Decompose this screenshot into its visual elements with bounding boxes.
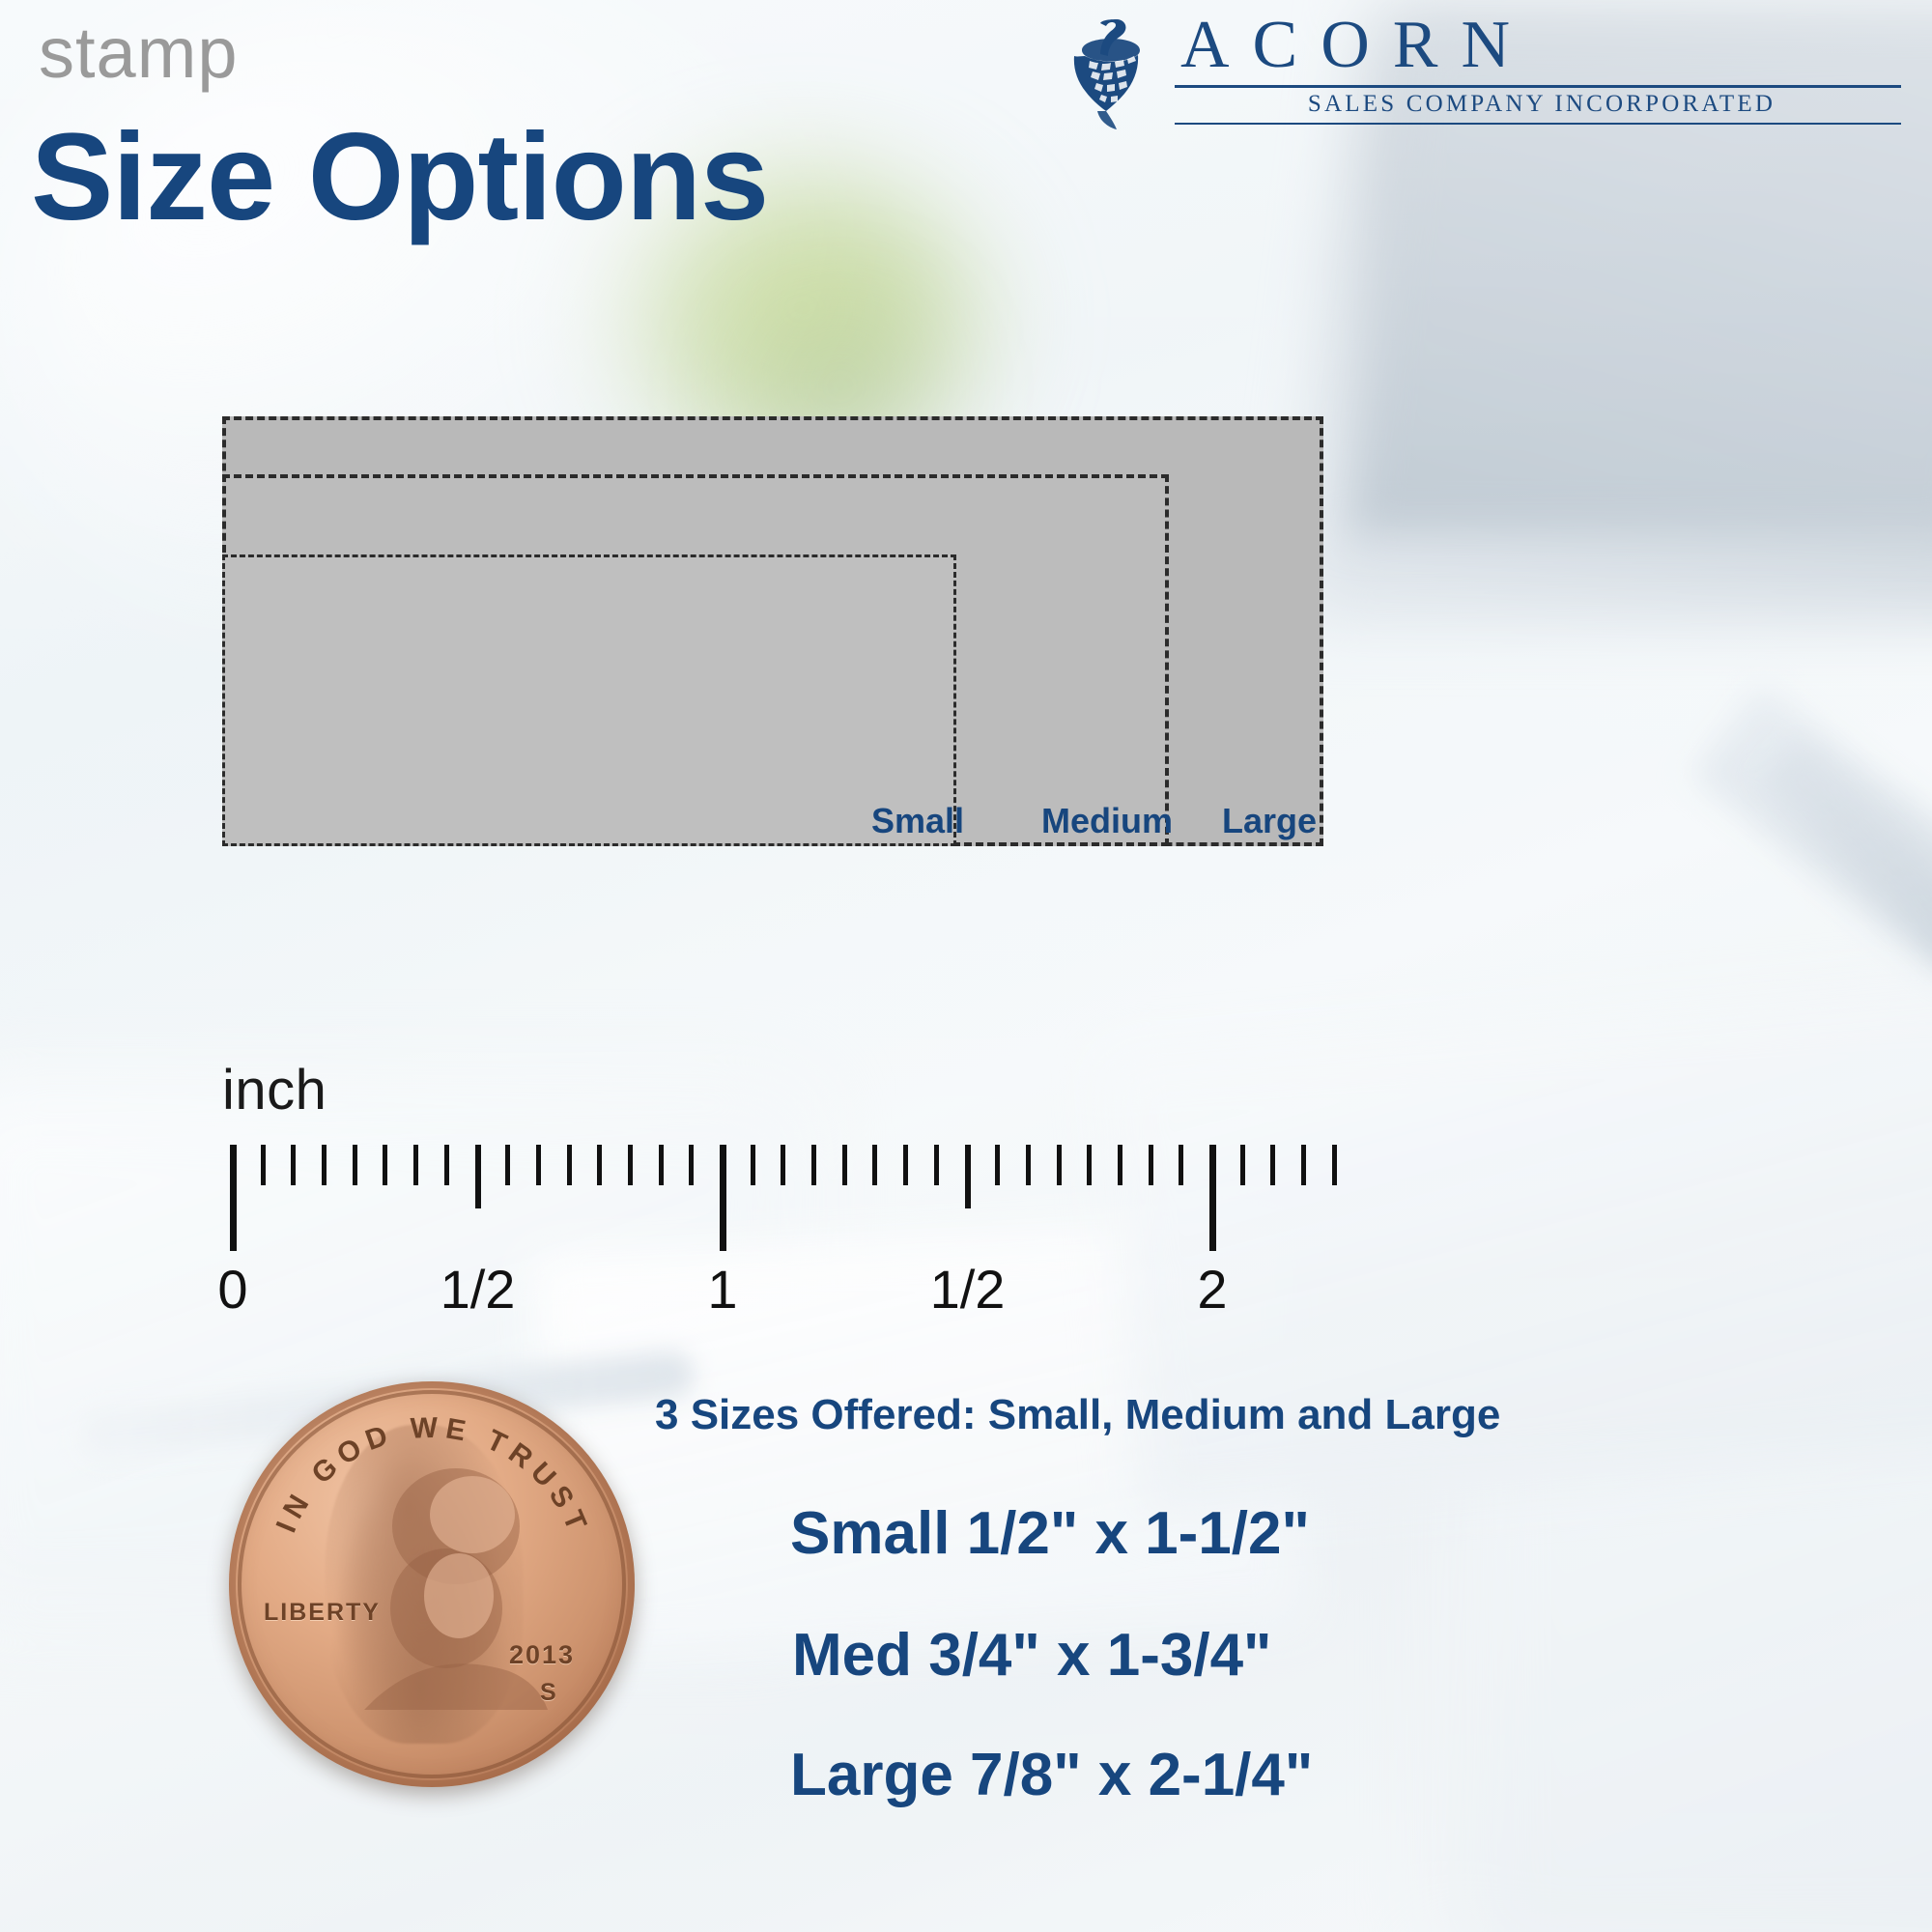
sizes-intro-text: 3 Sizes Offered: Small, Medium and Large: [655, 1391, 1500, 1439]
page-title: Size Options: [31, 116, 768, 240]
ruler-tick-minor: [1301, 1145, 1306, 1185]
page-kicker: stamp: [39, 17, 239, 89]
ruler-tick-minor: [1118, 1145, 1122, 1185]
penny-coin-image: IN GOD WE TRUST LIBERTY 2013 S: [229, 1381, 635, 1787]
ruler-tick-minor: [659, 1145, 664, 1185]
size-spec-medium: Med 3/4" x 1-3/4": [792, 1621, 1271, 1690]
ruler-tick-minor: [903, 1145, 908, 1185]
size-box-label-large: Large: [1222, 804, 1317, 838]
ruler-tick-minor: [934, 1145, 939, 1185]
ruler-tick-major: [1209, 1145, 1216, 1251]
brand-logo[interactable]: ACORN SALES COMPANY INCORPORATED: [1061, 8, 1911, 133]
ruler-tick-minor: [995, 1145, 1000, 1185]
acorn-icon: [1061, 15, 1167, 131]
ruler-tick-major: [230, 1145, 237, 1251]
ruler-tick-minor: [872, 1145, 877, 1185]
ruler-label: 1: [707, 1263, 737, 1317]
ruler-tick-minor: [628, 1145, 633, 1185]
size-spec-large: Large 7/8" x 2-1/4": [790, 1741, 1313, 1809]
ruler-tick-major: [720, 1145, 726, 1251]
ruler-tick-half: [475, 1145, 481, 1208]
ruler-tick-minor: [1087, 1145, 1092, 1185]
ruler-tick-minor: [536, 1145, 541, 1185]
penny-relief: IN GOD WE TRUST: [229, 1381, 635, 1787]
ruler-tick-minor: [505, 1145, 510, 1185]
ruler-tick-minor: [322, 1145, 327, 1185]
brand-name: ACORN: [1175, 12, 1909, 79]
ruler-tick-half: [965, 1145, 971, 1208]
size-box-small[interactable]: [222, 554, 956, 846]
ruler-tick-minor: [597, 1145, 602, 1185]
ruler-tick-minor: [781, 1145, 785, 1185]
ruler-tick-minor: [444, 1145, 449, 1185]
logo-divider-top: [1175, 85, 1901, 88]
inch-ruler: inch 01/211/22: [230, 1145, 1331, 1261]
size-comparison-boxes: Small Medium Large: [222, 413, 1328, 846]
ruler-tick-minor: [1179, 1145, 1183, 1185]
ruler-tick-minor: [811, 1145, 816, 1185]
ruler-tick-minor: [353, 1145, 357, 1185]
ruler-tick-minor: [261, 1145, 266, 1185]
ruler-tick-minor: [413, 1145, 418, 1185]
poster-canvas: stamp Size Options: [0, 0, 1932, 1932]
penny-mint-mark: S: [540, 1679, 558, 1707]
ruler-label: 1/2: [440, 1263, 516, 1317]
size-box-label-medium: Medium: [1041, 804, 1173, 838]
ruler-tick-minor: [1270, 1145, 1275, 1185]
logo-divider-bottom: [1175, 123, 1901, 125]
ruler-tick-minor: [1057, 1145, 1062, 1185]
ruler-tick-minor: [751, 1145, 755, 1185]
brand-tagline: SALES COMPANY INCORPORATED: [1175, 91, 1909, 119]
penny-year-text: 2013: [509, 1640, 575, 1670]
ruler-label: 0: [217, 1263, 247, 1317]
ruler-label: 1/2: [930, 1263, 1006, 1317]
ruler-tick-minor: [291, 1145, 296, 1185]
ruler-unit-label: inch: [222, 1058, 327, 1122]
size-box-label-small: Small: [871, 804, 964, 838]
penny-liberty-text: LIBERTY: [264, 1599, 381, 1627]
ruler-label: 2: [1197, 1263, 1227, 1317]
ruler-tick-minor: [1240, 1145, 1245, 1185]
ruler-tick-minor: [383, 1145, 387, 1185]
ruler-tick-minor: [689, 1145, 694, 1185]
ruler-tick-minor: [842, 1145, 847, 1185]
ruler-tick-minor: [1149, 1145, 1153, 1185]
ruler-tick-minor: [1026, 1145, 1031, 1185]
ruler-tick-minor: [1332, 1145, 1337, 1185]
ruler-tick-minor: [567, 1145, 572, 1185]
size-spec-small: Small 1/2" x 1-1/2": [790, 1499, 1310, 1568]
